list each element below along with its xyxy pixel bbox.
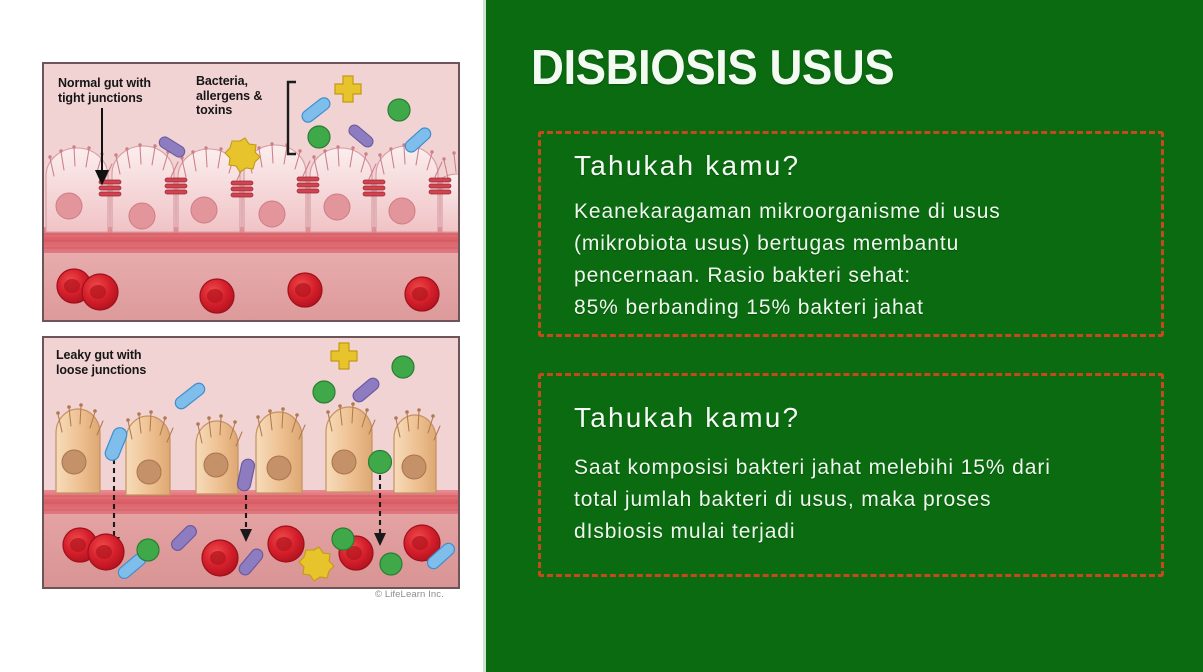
label-particles-line2: allergens &	[196, 89, 262, 104]
label-particles-line1: Bacteria,	[196, 74, 262, 89]
fact-box-1-body: Keanekaragaman mikroorganisme di usus (m…	[574, 196, 1149, 324]
slide-root: Normal gut with tight junctions Bacteria…	[0, 0, 1203, 672]
fact-box-1-line-4: 85% berbanding 15% bakteri jahat	[574, 292, 1149, 324]
bacteria-green-coccus-blood-2	[332, 528, 354, 550]
fact-box-1-line-3: pencernaan. Rasio bakteri sehat:	[574, 260, 1149, 292]
label-particles-line3: toxins	[196, 103, 262, 118]
illustration-pane: Normal gut with tight junctions Bacteria…	[0, 0, 486, 672]
fact-box-2-line-1: Saat komposisi bakteri jahat melebihi 15…	[574, 452, 1149, 484]
fact-box-1-line-2: (mikrobiota usus) bertugas membantu	[574, 228, 1149, 260]
bacteria-green-coccus-blood-3	[380, 553, 402, 575]
fact-box-2-heading: Tahukah kamu?	[574, 402, 800, 434]
bacteria-green-coccus-blood	[137, 539, 159, 561]
label-normal-gut-line1: Normal gut with	[58, 76, 151, 91]
fact-box-2-line-3: dIsbiosis mulai terjadi	[574, 516, 1149, 548]
fact-box-2-line-2: total jumlah bakteri di usus, maka prose…	[574, 484, 1149, 516]
bacteria-green-coccus-lumen-2	[313, 381, 335, 403]
page-title: DISBIOSIS USUS	[531, 44, 894, 93]
label-leaky-gut-line2: loose junctions	[56, 363, 146, 378]
panel-normal-gut: Normal gut with tight junctions Bacteria…	[42, 62, 460, 322]
copyright-credit: © LifeLearn Inc.	[375, 589, 444, 600]
label-bacteria-allergens-toxins: Bacteria, allergens & toxins	[196, 74, 262, 118]
content-pane: DISBIOSIS USUS Tahukah kamu? Keanekaraga…	[486, 0, 1203, 672]
label-leaky-gut: Leaky gut with loose junctions	[56, 348, 146, 377]
panel-leaky-gut: Leaky gut with loose junctions	[42, 336, 460, 589]
label-normal-gut: Normal gut with tight junctions	[58, 76, 151, 105]
fact-box-1-line-1: Keanekaragaman mikroorganisme di usus	[574, 196, 1149, 228]
fact-box-microbiota: Tahukah kamu? Keanekaragaman mikroorgani…	[538, 131, 1164, 337]
fact-box-1-heading: Tahukah kamu?	[574, 150, 800, 182]
fact-box-dysbiosis: Tahukah kamu? Saat komposisi bakteri jah…	[538, 373, 1164, 577]
bacteria-green-coccus-2	[388, 99, 410, 121]
fact-box-2-body: Saat komposisi bakteri jahat melebihi 15…	[574, 452, 1149, 548]
bacteria-green-coccus-crossing	[369, 451, 392, 474]
bacteria-green-coccus-lumen	[392, 356, 414, 378]
bacteria-green-coccus	[308, 126, 330, 148]
label-leaky-gut-line1: Leaky gut with	[56, 348, 146, 363]
label-normal-gut-line2: tight junctions	[58, 91, 151, 106]
